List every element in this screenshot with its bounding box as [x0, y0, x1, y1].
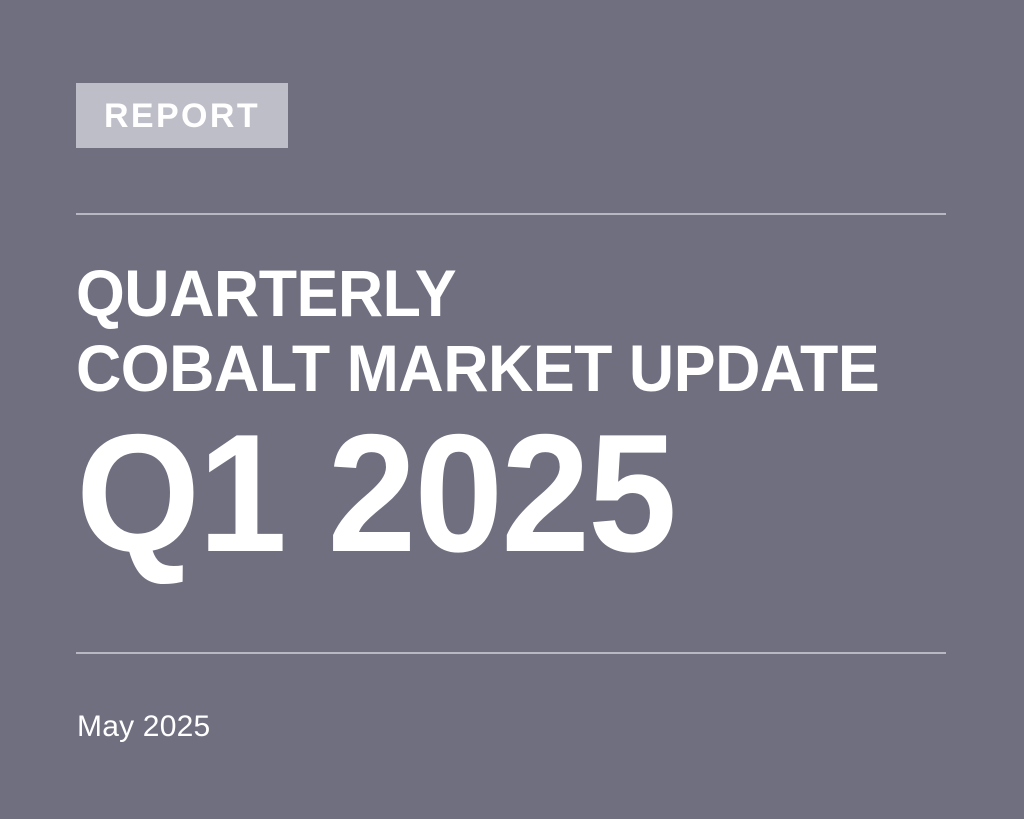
divider-top: [76, 213, 946, 215]
title-line-cobalt-market-update: COBALT MARKET UPDATE: [76, 337, 931, 400]
cover-title-block: QUARTERLY COBALT MARKET UPDATE Q1 2025: [76, 262, 976, 571]
report-type-badge: REPORT: [76, 83, 288, 148]
title-period-q1-2025: Q1 2025: [76, 415, 931, 571]
title-line-quarterly: QUARTERLY: [76, 262, 931, 325]
publication-date: May 2025: [77, 712, 210, 742]
report-cover-page: REPORT QUARTERLY COBALT MARKET UPDATE Q1…: [0, 0, 1024, 819]
divider-bottom: [76, 652, 946, 654]
report-type-badge-label: REPORT: [104, 99, 260, 133]
